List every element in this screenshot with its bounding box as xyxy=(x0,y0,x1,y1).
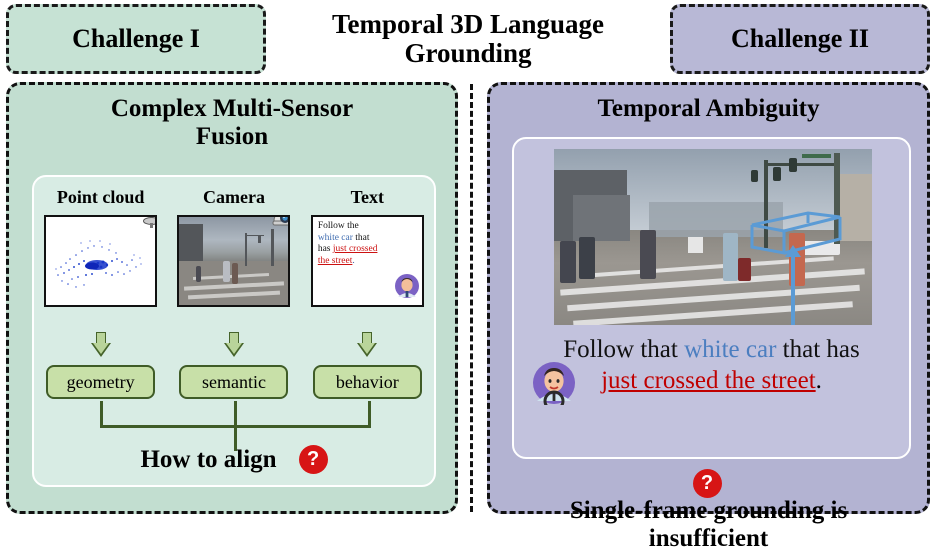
camera-building-left xyxy=(179,224,203,261)
dome-camera-icon xyxy=(270,215,290,231)
caption-part-1: Follow that xyxy=(563,336,684,363)
temporal-ambiguity-card: Follow that white car that has just cros… xyxy=(512,137,911,459)
text-seg-7: . xyxy=(352,256,354,266)
conclusion-line-2: insufficient xyxy=(490,525,927,553)
street-sign xyxy=(802,154,831,158)
feature-boxes: geometry semantic behavior xyxy=(34,365,434,401)
modality-headings: Point cloud Camera Text xyxy=(34,187,434,208)
camera-pole-1 xyxy=(245,233,247,266)
how-to-align-label: How to align xyxy=(140,446,276,474)
camera-pedestrian-2 xyxy=(223,261,230,282)
right-panel-conclusion: Single-frame grounding is insufficient xyxy=(490,497,927,553)
scene-truck xyxy=(688,237,704,253)
caption-just-crossed: just crossed the street xyxy=(601,367,816,394)
traffic-light-1 xyxy=(773,167,781,181)
question-mark-badge-right: ? xyxy=(693,469,722,498)
challenge-two-panel: Temporal Ambiguity xyxy=(487,82,930,514)
arrow-cell-geometry xyxy=(34,329,167,361)
text-cell: Follow the white car that has just cross… xyxy=(301,215,434,325)
text-avatar-icon xyxy=(394,273,420,304)
heading-text: Text xyxy=(301,187,434,208)
left-panel-title-line-1: Complex Multi-Sensor xyxy=(9,95,455,123)
conclusion-line-1: Single-frame grounding is xyxy=(490,497,927,525)
camera-traffic-light xyxy=(258,236,261,242)
pedestrian-2 xyxy=(579,237,595,279)
feature-box-geometry: geometry xyxy=(46,365,155,399)
bbox-pointer-head xyxy=(785,245,801,257)
point-cloud-thumbnail xyxy=(44,215,157,307)
lidar-icon xyxy=(137,215,157,229)
point-cloud-points xyxy=(46,217,155,305)
figure-root: Challenge I Temporal 3D Language Groundi… xyxy=(0,0,936,519)
arrow-cell-semantic xyxy=(167,329,300,361)
fusion-arrows xyxy=(34,329,434,361)
question-mark-badge-left: ? xyxy=(299,445,328,474)
figure-main-title: Temporal 3D Language Grounding xyxy=(266,4,670,74)
bbox-pointer-line xyxy=(791,253,795,325)
camera-pedestrian-3 xyxy=(232,263,239,284)
text-seg-1: Follow the xyxy=(318,221,359,231)
feature-box-behavior: behavior xyxy=(313,365,422,399)
caption-period: . xyxy=(816,367,822,394)
heading-camera: Camera xyxy=(167,187,300,208)
modality-thumbnails: Follow the white car that has just cross… xyxy=(34,215,434,325)
scene-luggage xyxy=(738,258,751,281)
panel-divider xyxy=(470,84,473,512)
feature-box-semantic: semantic xyxy=(179,365,288,399)
pedestrian-3 xyxy=(640,230,656,279)
down-arrow-icon-2 xyxy=(224,332,244,358)
arrow-cell-behavior xyxy=(301,329,434,361)
camera-mast-arm xyxy=(245,235,265,237)
camera-pedestrian-1 xyxy=(196,266,201,282)
challenge-two-badge: Challenge II xyxy=(670,4,930,74)
challenge-two-label: Challenge II xyxy=(731,24,869,54)
multi-sensor-card: Point cloud Camera Text xyxy=(32,175,436,487)
tree-stem-3 xyxy=(368,401,371,427)
connector-tree xyxy=(34,401,434,449)
heading-point-cloud: Point cloud xyxy=(34,187,167,208)
text-seg-3: that xyxy=(355,233,369,243)
traffic-mast-arm xyxy=(764,163,834,166)
text-seg-2: white car xyxy=(318,233,353,243)
main-title-line-1: Temporal 3D Language xyxy=(332,10,604,39)
traffic-light-3 xyxy=(751,170,758,182)
text-seg-5: just crossed xyxy=(333,244,378,254)
challenge-one-badge: Challenge I xyxy=(6,4,266,74)
point-cloud-cell xyxy=(34,215,167,325)
camera-thumbnail xyxy=(177,215,290,307)
pedestrian-1 xyxy=(560,241,576,283)
feature-cell-2: semantic xyxy=(167,365,300,401)
text-thumbnail: Follow the white car that has just cross… xyxy=(311,215,424,307)
traffic-light-2 xyxy=(789,158,797,172)
feature-cell-1: geometry xyxy=(34,365,167,401)
left-panel-title: Complex Multi-Sensor Fusion xyxy=(9,85,455,150)
alignment-conclusion: How to align ? xyxy=(34,445,434,474)
text-seg-6: the street xyxy=(318,256,353,266)
down-arrow-icon-3 xyxy=(357,332,377,358)
header-row: Challenge I Temporal 3D Language Groundi… xyxy=(6,4,930,74)
caption-white-car: white car xyxy=(684,336,776,363)
right-panel-title: Temporal Ambiguity xyxy=(490,85,927,123)
challenge-one-panel: Complex Multi-Sensor Fusion Point cloud … xyxy=(6,82,458,514)
camera-cell xyxy=(167,215,300,325)
tree-stem-1 xyxy=(100,401,103,427)
camera-pole-2 xyxy=(271,229,274,266)
feature-cell-3: behavior xyxy=(301,365,434,401)
left-panel-title-line-2: Fusion xyxy=(9,123,455,151)
tree-stem-2 xyxy=(234,401,237,427)
down-arrow-icon-1 xyxy=(91,332,111,358)
scene-building-left-2 xyxy=(573,195,630,241)
text-seg-4: has xyxy=(318,244,331,254)
street-scene-image xyxy=(554,149,872,325)
main-title-line-2: Grounding xyxy=(332,39,604,68)
driver-avatar-icon xyxy=(532,361,576,405)
pedestrian-4 xyxy=(723,233,739,281)
caption-part-3: that has xyxy=(776,336,859,363)
challenge-one-label: Challenge I xyxy=(72,24,200,54)
